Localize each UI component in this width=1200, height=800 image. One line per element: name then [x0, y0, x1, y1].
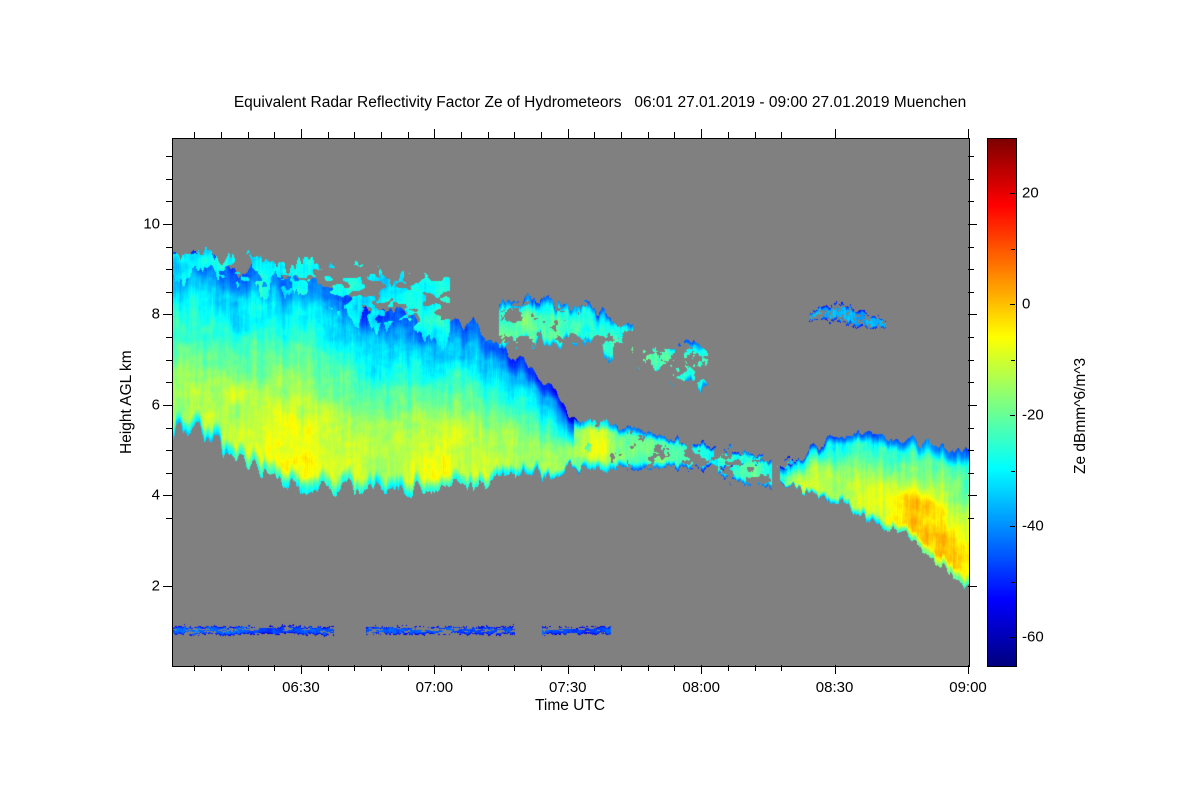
y-tick-minor	[166, 428, 172, 429]
x-tick-minor-top	[248, 132, 249, 138]
x-tick-label: 07:30	[549, 679, 587, 696]
y-tick-major	[163, 224, 172, 225]
x-tick-minor-top	[541, 132, 542, 138]
x-tick-minor-top	[594, 132, 595, 138]
colorbar-tick-minor	[1011, 138, 1015, 139]
x-tick-label: 07:00	[416, 679, 454, 696]
radar-heatmap-canvas	[173, 139, 969, 666]
y-tick-major-right	[968, 405, 977, 406]
y-tick-minor	[166, 337, 172, 338]
colorbar-tick-minor	[1011, 360, 1015, 361]
y-tick-minor-right	[968, 292, 974, 293]
colorbar-tick-label: -20	[1022, 407, 1044, 424]
x-tick-major	[301, 665, 302, 674]
x-tick-minor-top	[728, 132, 729, 138]
y-tick-minor-right	[968, 247, 974, 248]
y-tick-major-right	[968, 224, 977, 225]
y-tick-minor-right	[968, 473, 974, 474]
x-tick-minor	[328, 665, 329, 671]
y-tick-major	[163, 586, 172, 587]
x-tick-minor	[354, 665, 355, 671]
y-tick-minor	[166, 292, 172, 293]
y-tick-minor-right	[968, 450, 974, 451]
x-tick-minor	[248, 665, 249, 671]
x-tick-major	[434, 665, 435, 674]
y-tick-major-right	[968, 314, 977, 315]
y-tick-minor	[166, 450, 172, 451]
y-tick-minor	[166, 382, 172, 383]
chart-title: Equivalent Radar Reflectivity Factor Ze …	[0, 94, 1200, 112]
colorbar-tick-minor	[1011, 471, 1015, 472]
colorbar-tick-label: 0	[1022, 296, 1030, 313]
plot-area	[172, 138, 970, 667]
colorbar-gradient	[988, 139, 1016, 666]
x-tick-minor	[408, 665, 409, 671]
x-tick-major	[835, 665, 836, 674]
x-tick-minor	[221, 665, 222, 671]
x-tick-major	[568, 665, 569, 674]
y-tick-minor	[166, 179, 172, 180]
x-tick-major-top	[835, 129, 836, 138]
y-tick-minor	[166, 201, 172, 202]
x-tick-minor-top	[674, 132, 675, 138]
y-tick-minor-right	[968, 518, 974, 519]
colorbar-label: Ze dBmm^6/m^3	[1072, 357, 1090, 473]
colorbar-tick-label: -40	[1022, 518, 1044, 535]
x-tick-minor	[488, 665, 489, 671]
x-tick-major-top	[434, 129, 435, 138]
y-tick-major	[163, 405, 172, 406]
y-axis-label: Height AGL km	[118, 350, 136, 454]
x-tick-minor-top	[755, 132, 756, 138]
x-tick-minor-top	[408, 132, 409, 138]
x-tick-minor-top	[488, 132, 489, 138]
x-tick-minor	[274, 665, 275, 671]
x-tick-major	[701, 665, 702, 674]
x-tick-minor	[781, 665, 782, 671]
colorbar-tick-label: 20	[1022, 185, 1039, 202]
x-tick-major-top	[968, 129, 969, 138]
colorbar-tick	[1010, 193, 1015, 194]
colorbar-tick	[1010, 304, 1015, 305]
x-tick-minor	[594, 665, 595, 671]
x-tick-minor	[381, 665, 382, 671]
x-tick-minor	[621, 665, 622, 671]
colorbar-tick	[1010, 415, 1015, 416]
y-tick-minor-right	[968, 156, 974, 157]
x-tick-minor	[461, 665, 462, 671]
y-tick-minor-right	[968, 428, 974, 429]
x-tick-major	[968, 665, 969, 674]
colorbar-tick-label: -60	[1022, 629, 1044, 646]
x-tick-minor-top	[461, 132, 462, 138]
y-tick-label: 4	[122, 487, 160, 504]
x-tick-minor-top	[221, 132, 222, 138]
y-tick-major	[163, 495, 172, 496]
y-tick-minor-right	[968, 382, 974, 383]
x-tick-minor-top	[274, 132, 275, 138]
colorbar-tick	[1010, 637, 1015, 638]
x-tick-major-top	[701, 129, 702, 138]
y-tick-label: 2	[122, 577, 160, 594]
x-tick-minor-top	[514, 132, 515, 138]
radar-reflectivity-figure: Equivalent Radar Reflectivity Factor Ze …	[0, 0, 1200, 800]
x-tick-label: 08:30	[816, 679, 854, 696]
y-tick-major-right	[968, 586, 977, 587]
x-tick-major-top	[301, 129, 302, 138]
y-tick-minor	[166, 518, 172, 519]
y-tick-label: 8	[122, 306, 160, 323]
x-tick-minor	[514, 665, 515, 671]
y-tick-minor-right	[968, 360, 974, 361]
y-tick-minor-right	[968, 179, 974, 180]
x-axis-label: Time UTC	[172, 697, 968, 715]
colorbar-tick	[1010, 526, 1015, 527]
x-tick-major-top	[568, 129, 569, 138]
x-tick-minor	[755, 665, 756, 671]
y-tick-minor-right	[968, 337, 974, 338]
x-tick-minor-top	[194, 132, 195, 138]
x-tick-minor	[541, 665, 542, 671]
y-tick-minor	[166, 269, 172, 270]
y-tick-minor	[166, 247, 172, 248]
x-tick-minor	[674, 665, 675, 671]
x-tick-label: 09:00	[949, 679, 987, 696]
x-tick-label: 06:30	[282, 679, 320, 696]
y-tick-label: 10	[122, 215, 160, 232]
x-tick-minor-top	[621, 132, 622, 138]
x-tick-minor	[648, 665, 649, 671]
colorbar-tick-minor	[1011, 582, 1015, 583]
x-tick-minor-top	[328, 132, 329, 138]
y-tick-major-right	[968, 495, 977, 496]
y-tick-minor	[166, 473, 172, 474]
x-tick-minor-top	[381, 132, 382, 138]
x-tick-minor-top	[354, 132, 355, 138]
x-tick-minor	[728, 665, 729, 671]
y-tick-minor	[166, 360, 172, 361]
colorbar-tick-minor	[1011, 249, 1015, 250]
y-tick-minor	[166, 156, 172, 157]
x-tick-minor	[194, 665, 195, 671]
y-tick-major	[163, 314, 172, 315]
x-tick-minor-top	[781, 132, 782, 138]
y-tick-minor-right	[968, 269, 974, 270]
x-tick-minor-top	[648, 132, 649, 138]
x-tick-label: 08:00	[682, 679, 720, 696]
y-tick-minor-right	[968, 201, 974, 202]
colorbar	[987, 138, 1017, 667]
